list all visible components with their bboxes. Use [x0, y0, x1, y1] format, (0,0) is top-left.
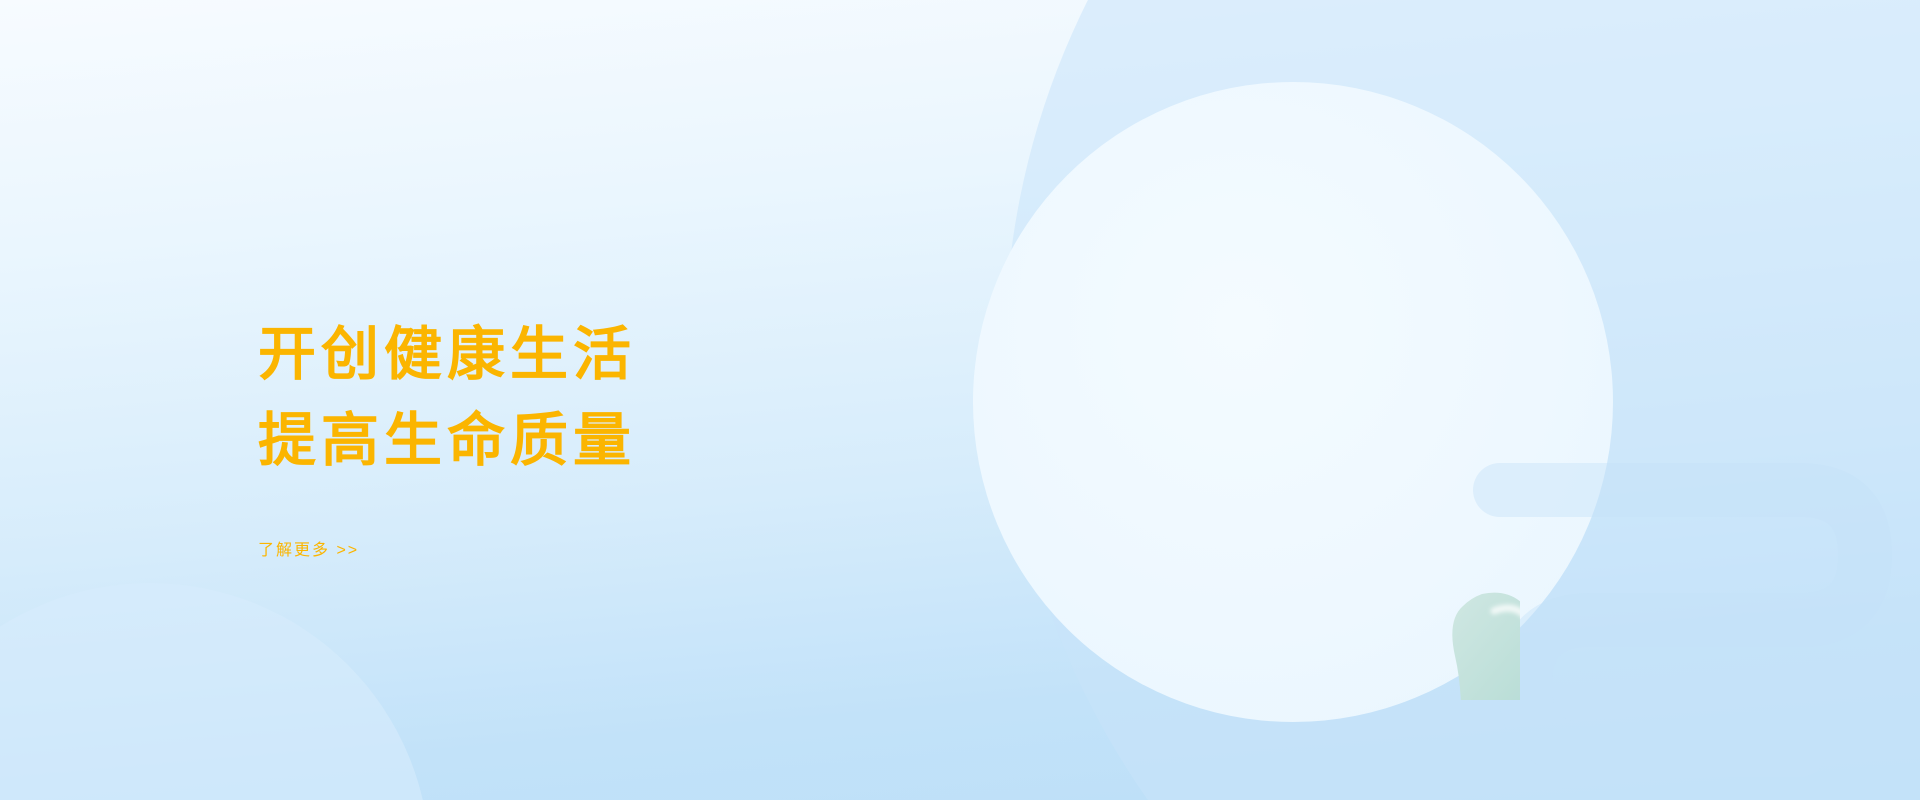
headline-line-2: 提高生命质量: [258, 398, 898, 484]
learn-more-link[interactable]: 了解更多 >>: [258, 536, 359, 560]
headline-line-1: 开创健康生活: [258, 312, 898, 398]
hero-copy: 开创健康生活 提高生命质量 了解更多 >>: [258, 312, 898, 560]
digestive-system-illustration: [880, 60, 1520, 700]
background-bottom-left-blob: [0, 583, 430, 800]
hero-banner: 开创健康生活 提高生命质量 了解更多 >>: [0, 0, 1920, 800]
background-intestine-watermark: [1470, 430, 1920, 800]
